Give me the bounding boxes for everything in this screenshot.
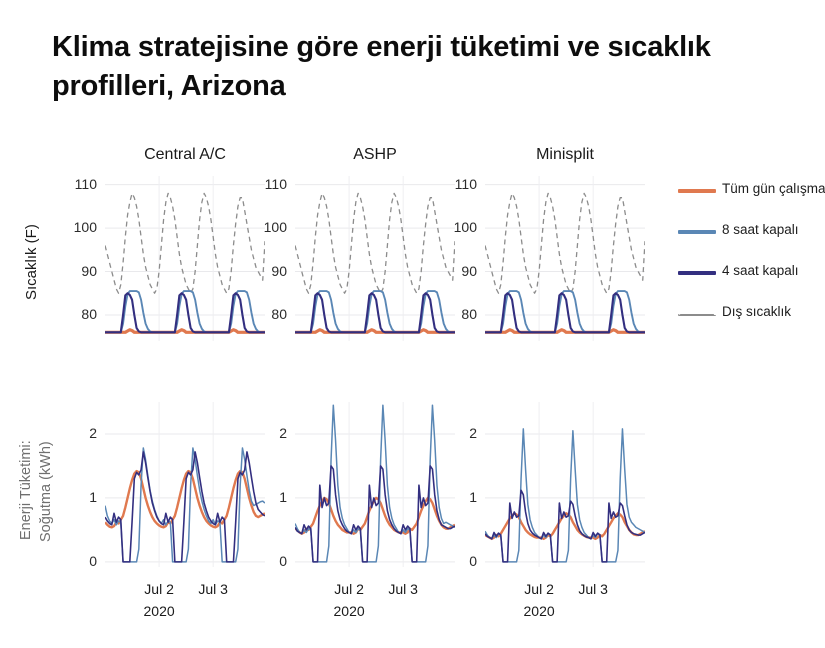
y-axis-title-energy-line2: Soğutma (kWh) [38, 441, 54, 542]
legend-item[interactable]: Tüm gün çalışma [678, 178, 823, 206]
x-axis-year-label: 2020 [511, 603, 567, 619]
chart-legend: Tüm gün çalışma8 saat kapalı4 saat kapal… [678, 178, 823, 342]
x-axis-year-label: 2020 [131, 603, 187, 619]
y-tick-label: 2 [249, 425, 287, 441]
energy-panel-3 [485, 402, 645, 567]
panel-title-minisplit: Minisplit [485, 146, 645, 164]
y-tick-label: 100 [59, 219, 97, 235]
x-tick-label: Jul 2 [131, 581, 187, 597]
legend-item-label: Tüm gün çalışma [722, 181, 825, 196]
y-axis-title-energy-line1: Enerji Tüketimi: [18, 440, 34, 540]
panel-title-central-a-c: Central A/C [105, 146, 265, 164]
y-tick-label: 90 [59, 263, 97, 279]
legend-item-label: Dış sıcaklık [722, 304, 791, 319]
y-tick-label: 80 [59, 306, 97, 322]
legend-item-label: 4 saat kapalı [722, 263, 799, 278]
y-tick-label: 0 [249, 553, 287, 569]
x-axis-year-label: 2020 [321, 603, 377, 619]
temperature-panel-2 [295, 176, 455, 341]
y-tick-label: 80 [249, 306, 287, 322]
energy-panel-2 [295, 402, 455, 567]
y-tick-label: 80 [439, 306, 477, 322]
y-tick-label: 0 [59, 553, 97, 569]
x-tick-label: Jul 3 [375, 581, 431, 597]
y-tick-label: 90 [439, 263, 477, 279]
energy-panel-1 [105, 402, 265, 567]
legend-item[interactable]: 4 saat kapalı [678, 260, 823, 288]
y-tick-label: 100 [249, 219, 287, 235]
y-tick-label: 1 [439, 489, 477, 505]
x-tick-label: Jul 3 [565, 581, 621, 597]
legend-item-label: 8 saat kapalı [722, 222, 799, 237]
legend-item[interactable]: Dış sıcaklık [678, 301, 823, 329]
y-tick-label: 110 [439, 176, 477, 192]
y-tick-label: 1 [249, 489, 287, 505]
line-swatch [678, 230, 716, 234]
panel-title-ashp: ASHP [295, 146, 455, 164]
y-tick-label: 0 [439, 553, 477, 569]
y-tick-label: 2 [59, 425, 97, 441]
y-tick-label: 1 [59, 489, 97, 505]
x-tick-label: Jul 2 [511, 581, 567, 597]
line-swatch [678, 271, 716, 275]
x-tick-label: Jul 2 [321, 581, 377, 597]
temperature-panel-3 [485, 176, 645, 341]
dashed-line-swatch [678, 314, 716, 316]
y-tick-label: 2 [439, 425, 477, 441]
y-tick-label: 90 [249, 263, 287, 279]
page-title: Klima stratejisine göre enerji tüketimi … [52, 28, 712, 106]
x-tick-label: Jul 3 [185, 581, 241, 597]
legend-item[interactable]: 8 saat kapalı [678, 219, 823, 247]
temperature-panel-1 [105, 176, 265, 341]
y-tick-label: 100 [439, 219, 477, 235]
y-tick-label: 110 [59, 176, 97, 192]
y-axis-title-temperature: Sıcaklık (F) [23, 224, 40, 300]
y-tick-label: 110 [249, 176, 287, 192]
line-swatch [678, 189, 716, 193]
